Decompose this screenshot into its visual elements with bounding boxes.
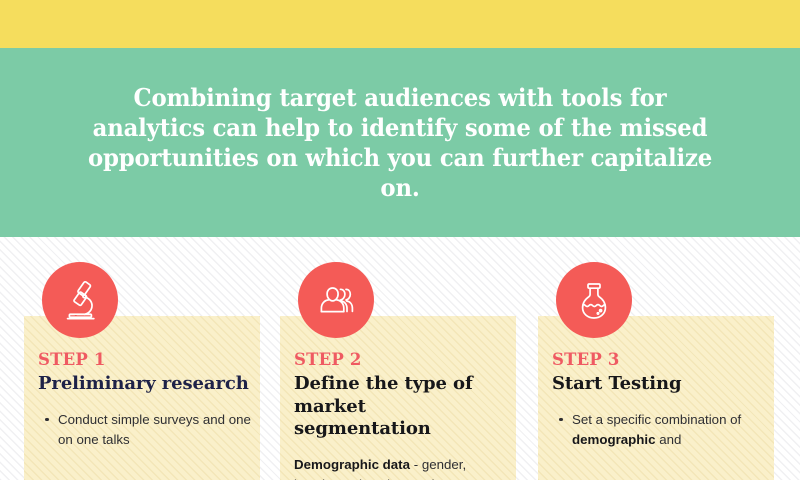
step-content-3: STEP 3 Start Testing Set a specific comb… (552, 350, 766, 450)
list-item-emphasis: demographic (572, 432, 656, 447)
step-content-1: STEP 1 Preliminary research Conduct simp… (38, 350, 252, 450)
step-column-1: STEP 1 Preliminary research Conduct simp… (24, 237, 260, 480)
step-content-2: STEP 2 Define the type of market segment… (294, 350, 508, 480)
step-title-3: Start Testing (552, 373, 766, 396)
list-item: Demographic data - gender, location, edu… (294, 455, 508, 480)
step-label-2: STEP 2 (294, 350, 508, 370)
step-column-2: STEP 2 Define the type of market segment… (280, 237, 516, 480)
step-column-3: STEP 3 Start Testing Set a specific comb… (538, 237, 774, 480)
quote-banner: Combining target audiences with tools fo… (0, 48, 800, 237)
people-group-icon (298, 262, 374, 338)
step-body-3: Set a specific combination of demographi… (552, 410, 766, 450)
step-label-1: STEP 1 (38, 350, 252, 370)
quote-text: Combining target audiences with tools fo… (75, 83, 726, 203)
step-title-2: Define the type of market segmentation (294, 373, 508, 441)
microscope-icon (42, 262, 118, 338)
infographic-page: Combining target audiences with tools fo… (0, 0, 800, 480)
step-body-1: Conduct simple surveys and one on one ta… (38, 410, 252, 450)
step-label-3: STEP 3 (552, 350, 766, 370)
list-item: Conduct simple surveys and one on one ta… (38, 410, 252, 450)
step-title-1: Preliminary research (38, 373, 252, 396)
list-item-lead: Demographic data (294, 457, 410, 472)
flask-icon (556, 262, 632, 338)
list-item: Set a specific combination of demographi… (552, 410, 766, 450)
steps-row: STEP 1 Preliminary research Conduct simp… (0, 237, 800, 480)
step-body-2: Demographic data - gender, location, edu… (294, 455, 508, 480)
top-yellow-band (0, 0, 800, 48)
